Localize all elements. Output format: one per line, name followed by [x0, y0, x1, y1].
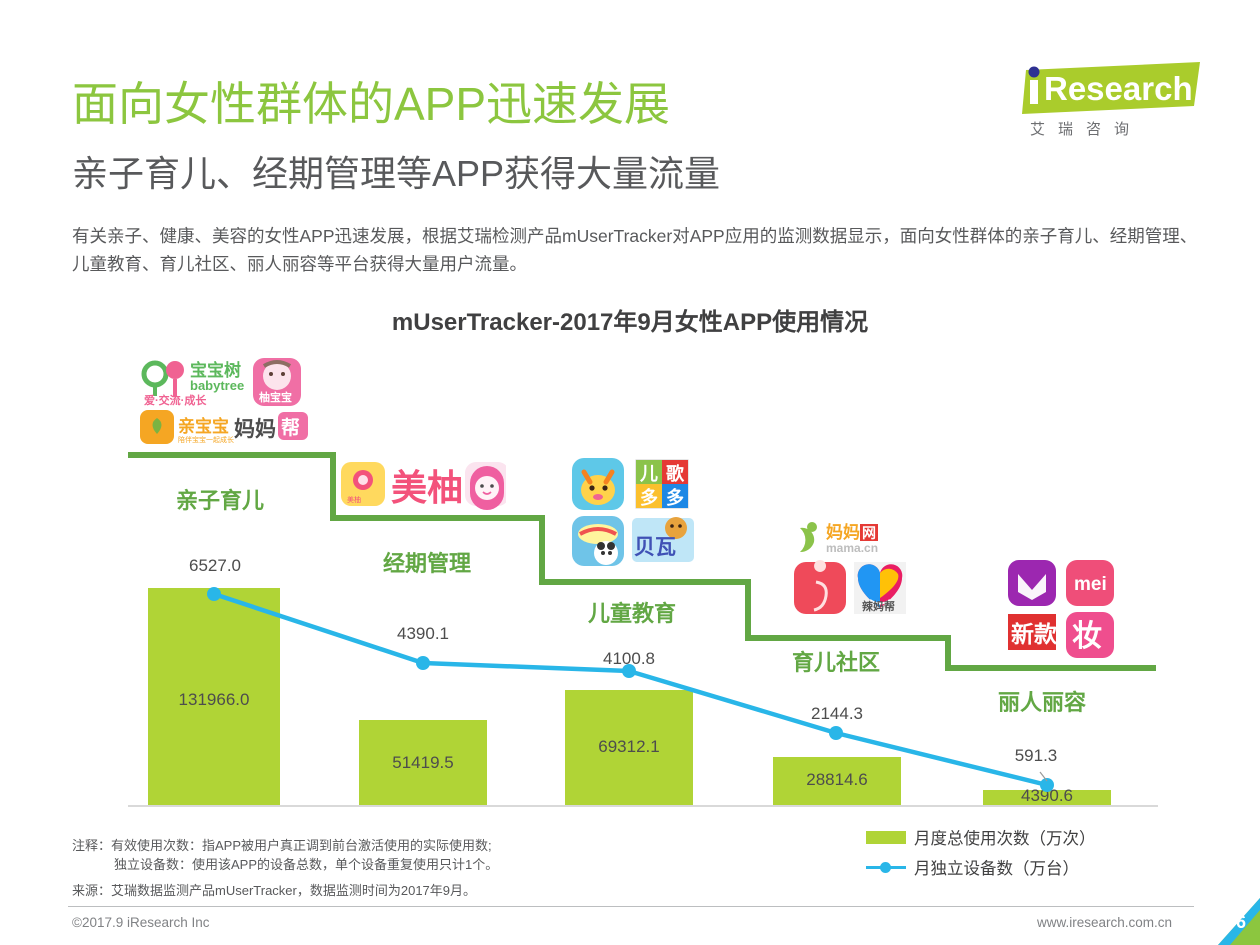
bar-value-2: 69312.1	[565, 737, 693, 757]
chart-area: 亲子育儿 经期管理 儿童教育 育儿社区 丽人丽容 宝宝树 babytree 爱·…	[0, 0, 1260, 945]
app-icon-group-0: 宝宝树 babytree 爱·交流·成长 柚宝宝 亲宝宝 陪伴宝宝一起成长 妈妈…	[138, 356, 328, 448]
line-value-3: 2144.3	[776, 704, 898, 724]
note-line-1: 注释：有效使用次数：指APP被用户真正调到前台激活使用的实际使用数;	[72, 836, 498, 855]
svg-text:美柚: 美柚	[391, 467, 463, 508]
app-icon-group-1: 美柚 美柚	[341, 460, 506, 510]
svg-text:新款: 新款	[1011, 621, 1058, 647]
bar-value-4: 4390.6	[983, 786, 1111, 806]
svg-text:歌: 歌	[666, 463, 685, 484]
svg-text:多: 多	[666, 487, 684, 508]
line-value-0: 6527.0	[154, 556, 276, 576]
svg-text:mei: mei	[1074, 574, 1107, 595]
line-point-3	[829, 726, 843, 740]
legend-swatch-line-icon	[866, 861, 906, 874]
footer-website[interactable]: www.iresearch.com.cn	[1037, 915, 1172, 930]
chart-legend: 月度总使用次数（万次） 月独立设备数（万台）	[866, 824, 1096, 884]
footer-copyright: ©2017.9 iResearch Inc	[72, 915, 210, 930]
category-label-3: 育儿社区	[792, 645, 880, 677]
svg-text:网: 网	[862, 525, 876, 541]
legend-label-line: 月独立设备数（万台）	[914, 855, 1079, 879]
svg-text:帮: 帮	[281, 416, 300, 439]
svg-text:美柚: 美柚	[347, 495, 361, 504]
svg-text:贝瓦: 贝瓦	[634, 536, 676, 559]
svg-text:儿: 儿	[639, 464, 658, 484]
svg-text:mama.cn: mama.cn	[826, 541, 878, 555]
app-icon-group-2: 儿 歌 多 多 贝瓦	[572, 458, 697, 568]
app-icon-group-4: mei 新款 妆	[1008, 560, 1118, 660]
svg-text:妈妈: 妈妈	[234, 417, 276, 441]
category-label-4: 丽人丽容	[998, 685, 1086, 717]
legend-label-bar: 月度总使用次数（万次）	[914, 825, 1096, 849]
svg-text:爱·交流·成长: 爱·交流·成长	[144, 393, 207, 407]
legend-item-line: 月独立设备数（万台）	[866, 854, 1096, 880]
legend-item-bar: 月度总使用次数（万次）	[866, 824, 1096, 850]
page-number: 6	[1236, 912, 1246, 933]
svg-text:妈妈: 妈妈	[826, 522, 860, 542]
slide-page: 面向女性群体的APP迅速发展 亲子育儿、经期管理等APP获得大量流量 有关亲子、…	[0, 0, 1260, 945]
footer-divider	[68, 906, 1194, 907]
source-line: 来源：艾瑞数据监测产品mUserTracker，数据监测时间为2017年9月。	[72, 880, 476, 899]
page-corner-icon	[1200, 898, 1260, 945]
svg-text:宝宝树: 宝宝树	[190, 360, 241, 380]
bar-value-0: 131966.0	[148, 690, 280, 710]
category-label-2: 儿童教育	[588, 596, 676, 628]
svg-text:妆: 妆	[1072, 620, 1102, 653]
svg-text:柚宝宝: 柚宝宝	[259, 390, 292, 404]
svg-text:辣妈帮: 辣妈帮	[862, 599, 895, 613]
legend-swatch-bar-icon	[866, 831, 906, 844]
category-label-1: 经期管理	[383, 546, 471, 578]
svg-text:babytree: babytree	[190, 378, 244, 393]
line-value-2: 4100.8	[568, 649, 690, 669]
line-point-1	[416, 656, 430, 670]
line-value-1: 4390.1	[362, 624, 484, 644]
bar-value-1: 51419.5	[359, 753, 487, 773]
line-value-4: 591.3	[975, 746, 1097, 766]
app-icon-group-3: 妈妈 网 mama.cn 辣妈帮	[792, 520, 912, 625]
chart-baseline	[128, 805, 1158, 807]
svg-text:亲宝宝: 亲宝宝	[178, 416, 229, 436]
category-label-0: 亲子育儿	[176, 483, 264, 515]
svg-text:多: 多	[640, 487, 658, 508]
notes-block: 注释：有效使用次数：指APP被用户真正调到前台激活使用的实际使用数; 独立设备数…	[72, 836, 498, 874]
svg-text:陪伴宝宝一起成长: 陪伴宝宝一起成长	[178, 435, 234, 444]
bar-value-3: 28814.6	[773, 770, 901, 790]
note-line-2: 独立设备数：使用该APP的设备总数，单个设备重复使用只计1个。	[72, 855, 498, 874]
